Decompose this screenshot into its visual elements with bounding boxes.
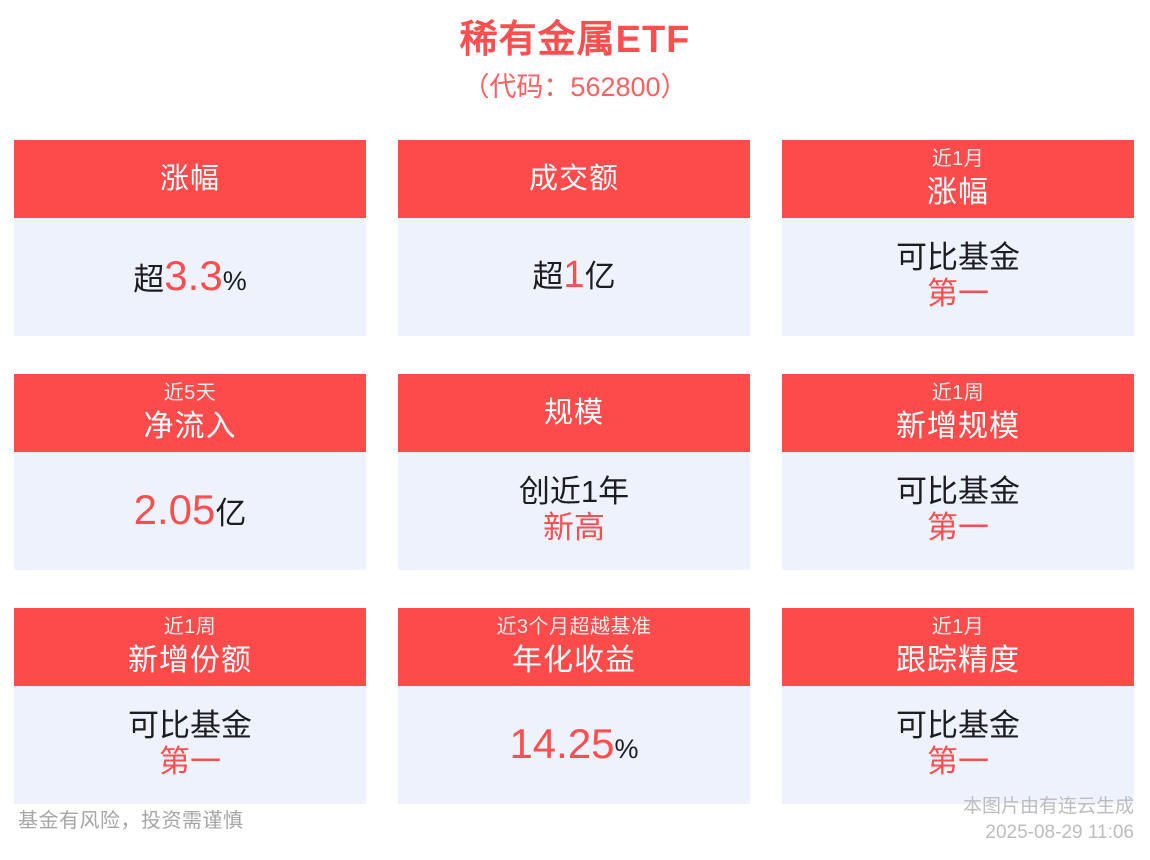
card-header-label: 新增份额 <box>128 642 252 680</box>
stat-card-1week-scale-growth[interactable]: 近1周 新增规模 可比基金 第一 <box>782 374 1134 570</box>
card-body: 创近1年 新高 <box>398 452 750 570</box>
card-header: 近1周 新增份额 <box>14 608 366 686</box>
card-header-sublabel: 近5天 <box>164 380 217 407</box>
card-value-prefix: 创近1年 <box>519 474 629 509</box>
card-header-sublabel: 近1月 <box>932 146 985 173</box>
card-value-suffix: % <box>223 266 247 296</box>
card-header: 近5天 净流入 <box>14 374 366 452</box>
card-highlight-value: 第一 <box>927 276 989 311</box>
card-value-prefix: 超 <box>532 259 563 294</box>
card-highlight-value: 新高 <box>543 510 605 545</box>
card-header: 近1月 跟踪精度 <box>782 608 1134 686</box>
card-value-line: 可比基金 <box>896 241 1020 276</box>
generation-timestamp: 2025-08-29 11:06 <box>963 820 1134 846</box>
card-highlight-value: 第一 <box>159 744 221 779</box>
card-value-line: 可比基金 <box>128 709 252 744</box>
card-body: 可比基金 第一 <box>782 452 1134 570</box>
card-body: 超1亿 <box>398 218 750 336</box>
card-value-line: 2.05亿 <box>134 486 247 533</box>
card-header-label: 成交额 <box>529 161 619 197</box>
generation-source: 本图片由有连云生成 <box>963 794 1134 820</box>
card-value-prefix: 可比基金 <box>896 240 1020 275</box>
card-value-number: 2.05 <box>134 486 216 533</box>
page-header: 稀有金属ETF （代码：562800） <box>0 0 1150 105</box>
card-highlight-value: 第一 <box>927 510 989 545</box>
card-value-line: 可比基金 <box>896 475 1020 510</box>
card-value-number: 14.25 <box>509 720 614 767</box>
card-value-prefix: 可比基金 <box>896 474 1020 509</box>
card-header-sublabel: 近1月 <box>932 614 985 641</box>
card-highlight-line: 第一 <box>927 745 989 780</box>
card-value-prefix: 超 <box>133 262 164 297</box>
card-value-prefix: 可比基金 <box>896 708 1020 743</box>
card-header: 成交额 <box>398 140 750 218</box>
card-highlight-value: 第一 <box>927 744 989 779</box>
card-header: 涨幅 <box>14 140 366 218</box>
card-value-prefix: 可比基金 <box>128 708 252 743</box>
card-header: 近1月 涨幅 <box>782 140 1134 218</box>
card-value-number: 1 <box>563 254 584 296</box>
stat-card-tracking-accuracy[interactable]: 近1月 跟踪精度 可比基金 第一 <box>782 608 1134 804</box>
card-header: 规模 <box>398 374 750 452</box>
generation-credit: 本图片由有连云生成 2025-08-29 11:06 <box>963 794 1134 845</box>
page-title: 稀有金属ETF <box>0 18 1150 63</box>
card-header-label: 规模 <box>544 395 604 431</box>
card-value-line: 超3.3% <box>133 252 246 299</box>
card-highlight-line: 第一 <box>159 745 221 780</box>
card-highlight-line: 第一 <box>927 277 989 312</box>
card-highlight-line: 第一 <box>927 511 989 546</box>
card-header-label: 跟踪精度 <box>896 642 1020 680</box>
risk-disclaimer: 基金有风险，投资需谨慎 <box>18 804 244 833</box>
stat-card-grid: 涨幅 超3.3% 成交额 超1亿 近1月 涨幅 可比基金 <box>14 140 1136 804</box>
card-value-line: 创近1年 <box>519 475 629 510</box>
card-value-number: 3.3 <box>164 252 222 299</box>
card-body: 超3.3% <box>14 218 366 336</box>
stat-card-turnover[interactable]: 成交额 超1亿 <box>398 140 750 336</box>
card-header-sublabel: 近1周 <box>932 380 985 407</box>
card-header-label: 新增规模 <box>896 408 1020 446</box>
stat-card-1month-change[interactable]: 近1月 涨幅 可比基金 第一 <box>782 140 1134 336</box>
stat-card-net-inflow[interactable]: 近5天 净流入 2.05亿 <box>14 374 366 570</box>
stat-card-change[interactable]: 涨幅 超3.3% <box>14 140 366 336</box>
card-value-suffix: 亿 <box>215 496 246 531</box>
page-footer: 基金有风险，投资需谨慎 本图片由有连云生成 2025-08-29 11:06 <box>0 786 1150 860</box>
card-body: 2.05亿 <box>14 452 366 570</box>
card-value-line: 超1亿 <box>532 254 615 297</box>
fund-code: （代码：562800） <box>0 69 1150 105</box>
card-highlight-line: 新高 <box>543 511 605 546</box>
card-body: 可比基金 第一 <box>782 218 1134 336</box>
stat-card-1week-share-growth[interactable]: 近1周 新增份额 可比基金 第一 <box>14 608 366 804</box>
card-value-suffix: % <box>615 734 639 764</box>
card-header-label: 涨幅 <box>927 174 989 212</box>
card-header-label: 年化收益 <box>512 642 636 680</box>
card-header-label: 净流入 <box>144 408 237 446</box>
card-header-sublabel: 近3个月超越基准 <box>496 614 651 641</box>
card-header: 近3个月超越基准 年化收益 <box>398 608 750 686</box>
stat-card-scale[interactable]: 规模 创近1年 新高 <box>398 374 750 570</box>
card-value-line: 可比基金 <box>896 709 1020 744</box>
card-header: 近1周 新增规模 <box>782 374 1134 452</box>
card-header-label: 涨幅 <box>160 161 220 197</box>
stat-card-annualized-excess-return[interactable]: 近3个月超越基准 年化收益 14.25% <box>398 608 750 804</box>
card-header-sublabel: 近1周 <box>164 614 217 641</box>
card-value-suffix: 亿 <box>585 259 616 294</box>
card-value-line: 14.25% <box>509 720 638 767</box>
